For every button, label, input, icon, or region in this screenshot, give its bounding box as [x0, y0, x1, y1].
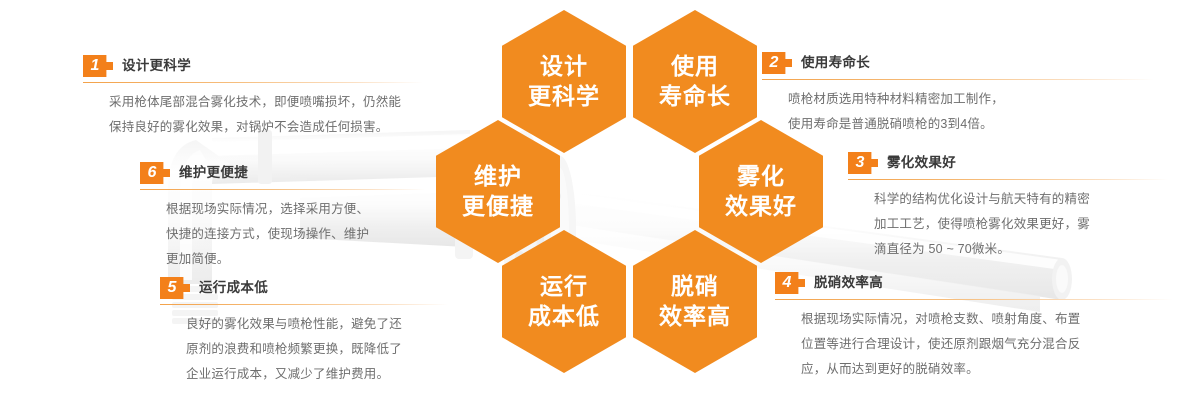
- feature-6-header: 6 维护更便捷: [140, 162, 440, 186]
- hexagon-denitration[interactable]: 脱硝 效率高: [633, 230, 757, 373]
- feature-block-2: 2 使用寿命长 喷枪材质选用特种材料精密加工制作， 使用寿命是普通脱硝喷枪的3到…: [762, 52, 1162, 137]
- hexagon-lifespan-line2: 寿命长: [659, 82, 731, 112]
- feature-4-body: 根据现场实际情况，对喷枪支数、喷射角度、布置 位置等进行合理设计，使还原剂跟烟气…: [775, 307, 1180, 382]
- feature-5-line-1: 良好的雾化效果与喷枪性能，避免了还: [186, 312, 460, 337]
- feature-1-divider: [83, 82, 423, 83]
- feature-2-line-2: 使用寿命是普通脱硝喷枪的3到4倍。: [788, 112, 1162, 137]
- feature-4-line-3: 应，从而达到更好的脱硝效率。: [801, 357, 1180, 382]
- feature-6-title: 维护更便捷: [179, 162, 248, 184]
- feature-4-divider: [775, 299, 1173, 300]
- hexagon-maintenance[interactable]: 维护 更便捷: [436, 120, 560, 263]
- hexagon-atomization-line2: 效果好: [725, 192, 797, 222]
- feature-4-number-badge: 4: [775, 272, 805, 294]
- feature-1-body: 采用枪体尾部混合雾化技术，即便喷嘴损坏，仍然能 保持良好的雾化效果，对锅炉不会造…: [83, 90, 438, 140]
- feature-block-1: 1 设计更科学 采用枪体尾部混合雾化技术，即便喷嘴损坏，仍然能 保持良好的雾化效…: [83, 55, 438, 140]
- feature-2-number-badge: 2: [762, 52, 792, 74]
- feature-4-header: 4 脱硝效率高: [775, 272, 1180, 296]
- feature-6-body: 根据现场实际情况，选择采用方便、 快捷的连接方式，使现场操作、维护 更加简便。: [140, 197, 440, 272]
- feature-6-number-badge: 6: [140, 162, 170, 184]
- infographic-canvas: 设计 更科学 使用 寿命长 维护 更便捷 雾化 效果好 运行 成本低 脱硝 效率…: [0, 0, 1197, 413]
- feature-2-divider: [762, 79, 1154, 80]
- feature-2-title: 使用寿命长: [801, 52, 870, 74]
- feature-block-3: 3 雾化效果好 科学的结构优化设计与航天特有的精密 加工工艺，使得喷枪雾化效果更…: [848, 152, 1178, 262]
- feature-6-divider: [140, 189, 425, 190]
- feature-5-number-badge: 5: [160, 277, 190, 299]
- feature-1-line-2: 保持良好的雾化效果，对锅炉不会造成任何损害。: [109, 115, 438, 140]
- hexagon-lifespan-line1: 使用: [671, 52, 719, 82]
- feature-1-number-badge: 1: [83, 55, 113, 77]
- feature-block-6: 6 维护更便捷 根据现场实际情况，选择采用方便、 快捷的连接方式，使现场操作、维…: [140, 162, 440, 272]
- feature-5-body: 良好的雾化效果与喷枪性能，避免了还 原剂的浪费和喷枪频繁更换，既降低了 企业运行…: [160, 312, 460, 387]
- feature-block-5: 5 运行成本低 良好的雾化效果与喷枪性能，避免了还 原剂的浪费和喷枪频繁更换，既…: [160, 277, 460, 387]
- feature-6-line-2: 快捷的连接方式，使现场操作、维护: [166, 222, 440, 247]
- feature-4-line-1: 根据现场实际情况，对喷枪支数、喷射角度、布置: [801, 307, 1180, 332]
- feature-5-title: 运行成本低: [199, 277, 268, 299]
- feature-3-line-2: 加工工艺，使得喷枪雾化效果更好，雾: [874, 212, 1178, 237]
- feature-2-line-1: 喷枪材质选用特种材料精密加工制作，: [788, 87, 1162, 112]
- feature-6-line-3: 更加简便。: [166, 247, 440, 272]
- feature-6-line-1: 根据现场实际情况，选择采用方便、: [166, 197, 440, 222]
- feature-1-line-1: 采用枪体尾部混合雾化技术，即便喷嘴损坏，仍然能: [109, 90, 438, 115]
- feature-3-title: 雾化效果好: [887, 152, 956, 174]
- feature-5-line-3: 企业运行成本，又减少了维护费用。: [186, 362, 460, 387]
- hexagon-cost-line2: 成本低: [528, 302, 600, 332]
- hexagon-denitration-line1: 脱硝: [671, 272, 719, 302]
- feature-4-line-2: 位置等进行合理设计，使还原剂跟烟气充分混合反: [801, 332, 1180, 357]
- hexagon-cost[interactable]: 运行 成本低: [502, 230, 626, 373]
- feature-5-line-2: 原剂的浪费和喷枪频繁更换，既降低了: [186, 337, 460, 362]
- feature-1-title: 设计更科学: [122, 55, 191, 77]
- feature-3-body: 科学的结构优化设计与航天特有的精密 加工工艺，使得喷枪雾化效果更好，雾 滴直径为…: [848, 187, 1178, 262]
- feature-block-4: 4 脱硝效率高 根据现场实际情况，对喷枪支数、喷射角度、布置 位置等进行合理设计…: [775, 272, 1180, 382]
- hexagon-maintenance-line2: 更便捷: [462, 192, 534, 222]
- feature-2-header: 2 使用寿命长: [762, 52, 1162, 76]
- feature-5-header: 5 运行成本低: [160, 277, 460, 301]
- feature-5-divider: [160, 304, 448, 305]
- hexagon-atomization-line1: 雾化: [737, 162, 785, 192]
- hexagon-design[interactable]: 设计 更科学: [502, 10, 626, 153]
- feature-3-line-1: 科学的结构优化设计与航天特有的精密: [874, 187, 1178, 212]
- feature-3-header: 3 雾化效果好: [848, 152, 1178, 176]
- feature-4-title: 脱硝效率高: [814, 272, 883, 294]
- hexagon-maintenance-line1: 维护: [474, 162, 522, 192]
- feature-3-number-badge: 3: [848, 152, 878, 174]
- hexagon-design-line1: 设计: [540, 52, 588, 82]
- hexagon-lifespan[interactable]: 使用 寿命长: [633, 10, 757, 153]
- hexagon-design-line2: 更科学: [528, 82, 600, 112]
- hexagon-atomization[interactable]: 雾化 效果好: [699, 120, 823, 263]
- feature-3-line-3: 滴直径为 50 ~ 70微米。: [874, 237, 1178, 262]
- feature-1-header: 1 设计更科学: [83, 55, 438, 79]
- hexagon-denitration-line2: 效率高: [659, 302, 731, 332]
- feature-2-body: 喷枪材质选用特种材料精密加工制作， 使用寿命是普通脱硝喷枪的3到4倍。: [762, 87, 1162, 137]
- feature-3-divider: [848, 179, 1168, 180]
- hexagon-cost-line1: 运行: [540, 272, 588, 302]
